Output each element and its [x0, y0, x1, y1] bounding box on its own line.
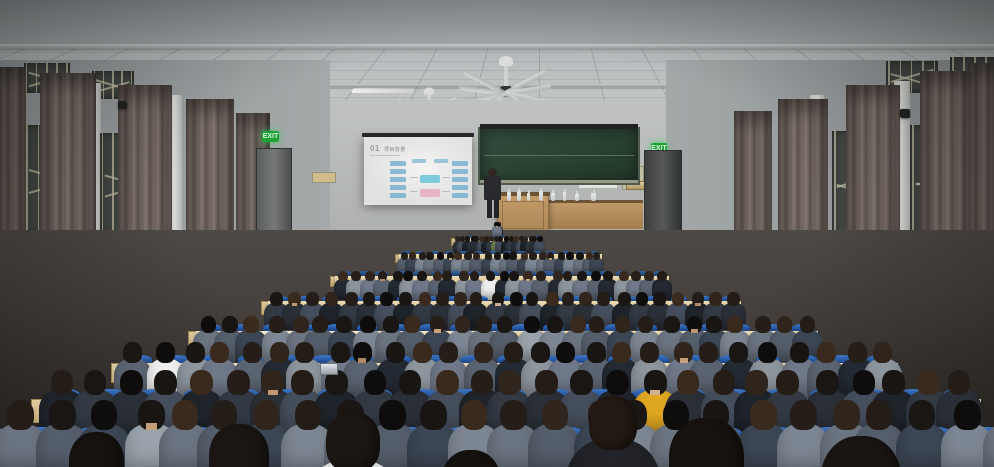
head	[727, 316, 743, 333]
neck	[358, 358, 366, 363]
head	[270, 342, 289, 363]
head	[777, 316, 793, 333]
head	[618, 292, 631, 306]
grey-striped-shirt	[151, 400, 152, 467]
neck	[695, 303, 701, 306]
ponytail-person	[612, 396, 613, 467]
head	[91, 400, 118, 430]
head	[336, 316, 352, 333]
head	[123, 342, 142, 363]
head	[556, 342, 575, 363]
head	[576, 252, 583, 260]
head	[399, 292, 412, 306]
head	[222, 316, 238, 333]
head	[210, 342, 229, 363]
head	[570, 316, 586, 333]
head	[253, 400, 280, 430]
fan-canopy	[424, 87, 434, 94]
audience-member	[671, 316, 672, 367]
head	[790, 400, 817, 430]
wall-speaker-right	[900, 109, 910, 118]
head	[547, 316, 563, 333]
head	[570, 370, 593, 395]
neck	[526, 279, 530, 281]
white-hoodie	[490, 271, 491, 303]
head	[954, 400, 981, 430]
head	[631, 271, 641, 282]
head	[566, 252, 573, 260]
head	[325, 292, 338, 306]
head	[413, 342, 432, 363]
head	[331, 342, 350, 363]
head	[227, 370, 250, 395]
head	[531, 342, 550, 363]
grille-bar	[26, 63, 28, 93]
head	[866, 400, 893, 430]
head	[291, 370, 314, 395]
audience-member	[967, 400, 968, 467]
audience-member	[20, 400, 21, 467]
head	[154, 370, 177, 395]
head	[612, 342, 631, 363]
audience-member	[540, 271, 541, 303]
audience-member	[185, 400, 186, 467]
head	[7, 400, 34, 430]
head	[619, 271, 629, 282]
head	[364, 370, 387, 395]
head	[49, 400, 76, 430]
head	[729, 342, 748, 363]
head	[758, 342, 777, 363]
audience-member	[433, 400, 434, 467]
navy-hoodie-person	[470, 450, 471, 467]
head	[917, 370, 940, 395]
head	[593, 252, 600, 260]
head	[817, 342, 836, 363]
head	[529, 252, 536, 260]
head	[190, 370, 213, 395]
neck	[292, 303, 298, 306]
head	[437, 252, 444, 260]
audience-member	[922, 400, 923, 467]
head	[524, 316, 540, 333]
head	[853, 370, 876, 395]
black-jacket-person	[860, 436, 861, 467]
head	[709, 292, 722, 306]
head	[727, 292, 740, 306]
audience-member	[763, 400, 764, 467]
audience-member	[392, 400, 393, 467]
head	[454, 252, 461, 260]
neck	[650, 390, 660, 396]
exit-sign-left: EXIT	[262, 131, 279, 142]
head	[201, 316, 217, 333]
neck	[434, 329, 441, 333]
head	[603, 271, 613, 282]
head	[295, 400, 322, 430]
head	[293, 316, 309, 333]
head	[470, 292, 483, 306]
head	[882, 370, 905, 395]
head	[84, 370, 107, 395]
head	[403, 271, 413, 282]
head	[243, 342, 262, 363]
head	[873, 342, 892, 363]
head	[306, 292, 319, 306]
head	[509, 271, 519, 282]
head	[383, 316, 399, 333]
head	[509, 252, 516, 260]
head	[504, 342, 523, 363]
neck	[680, 358, 688, 363]
neck	[146, 423, 158, 430]
head	[360, 316, 376, 333]
head	[776, 370, 799, 395]
white-hoodie-person	[352, 412, 353, 467]
head	[436, 370, 459, 395]
wall-speaker-left	[118, 101, 127, 109]
head	[790, 342, 809, 363]
head	[577, 271, 587, 282]
head	[404, 316, 420, 333]
head	[653, 292, 666, 306]
head	[745, 370, 768, 395]
grey-striped-person	[238, 424, 239, 467]
seating-area	[0, 150, 994, 467]
head	[269, 316, 285, 333]
head	[800, 316, 816, 333]
head	[455, 316, 471, 333]
head	[591, 271, 601, 282]
head	[439, 342, 458, 363]
head	[948, 370, 971, 395]
head	[326, 412, 380, 467]
grille-bar	[103, 71, 105, 99]
audience-member	[62, 400, 63, 467]
head	[474, 342, 493, 363]
head	[386, 342, 405, 363]
head	[243, 316, 259, 333]
head	[638, 316, 654, 333]
audience-member	[307, 400, 308, 467]
head	[589, 396, 637, 450]
audience-member	[411, 316, 412, 367]
head	[597, 292, 610, 306]
head	[636, 292, 649, 306]
head	[546, 292, 559, 306]
head	[579, 292, 592, 306]
neck	[496, 226, 498, 227]
head	[498, 370, 521, 395]
foreground-person-left	[96, 432, 97, 467]
head	[606, 370, 629, 395]
head	[500, 400, 527, 430]
head	[454, 292, 467, 306]
head	[510, 292, 523, 306]
head	[270, 292, 283, 306]
audience-member	[513, 400, 514, 467]
head	[379, 400, 406, 430]
audience-member	[803, 400, 804, 467]
head	[699, 342, 718, 363]
ceiling-fan	[505, 58, 507, 100]
head	[706, 316, 722, 333]
head	[351, 271, 361, 282]
head	[426, 252, 433, 260]
head	[750, 400, 777, 430]
head	[497, 316, 513, 333]
head	[156, 342, 175, 363]
head	[420, 400, 447, 430]
head	[417, 271, 427, 282]
neck	[495, 303, 501, 306]
head	[542, 400, 569, 430]
head	[848, 342, 867, 363]
head	[338, 271, 348, 282]
audience-member	[229, 316, 230, 367]
head	[409, 252, 416, 260]
neck	[380, 279, 384, 281]
head	[755, 316, 771, 333]
grille-bar	[911, 61, 913, 93]
head	[345, 292, 358, 306]
audience-member	[784, 316, 785, 367]
head	[589, 316, 605, 333]
head	[461, 400, 488, 430]
exit-sign-left-label: EXIT	[263, 133, 279, 140]
head	[535, 370, 558, 395]
lecture-hall-photo: EXIT EXIT 01 项目背景	[0, 0, 994, 467]
head	[186, 342, 205, 363]
head	[644, 271, 654, 282]
audience-member	[659, 292, 660, 333]
head	[312, 316, 328, 333]
head	[909, 400, 936, 430]
neck	[268, 390, 278, 396]
head	[833, 400, 860, 430]
audience-member	[554, 400, 555, 467]
audience-member	[219, 342, 220, 404]
nordic-sweater-person	[706, 418, 707, 467]
head	[672, 292, 685, 306]
audience-member	[343, 271, 344, 303]
laptop	[320, 363, 338, 375]
head	[657, 271, 667, 282]
head	[562, 292, 575, 306]
head	[436, 292, 449, 306]
audience-member	[568, 292, 569, 333]
head	[640, 342, 659, 363]
head	[537, 236, 542, 242]
head	[442, 271, 452, 282]
neck	[549, 258, 552, 260]
head	[587, 342, 606, 363]
head	[380, 292, 393, 306]
head	[536, 271, 546, 282]
fan-canopy	[499, 56, 513, 66]
head	[816, 370, 839, 395]
head	[526, 292, 539, 306]
head	[363, 292, 376, 306]
head	[399, 370, 422, 395]
grille-bar	[36, 63, 38, 93]
head	[713, 370, 736, 395]
head	[120, 370, 143, 395]
head	[172, 400, 199, 430]
head	[51, 370, 74, 395]
neck	[691, 329, 698, 333]
head	[295, 342, 314, 363]
head	[471, 370, 494, 395]
head	[419, 292, 432, 306]
head	[664, 316, 680, 333]
head	[476, 316, 492, 333]
head	[615, 316, 631, 333]
head	[677, 370, 700, 395]
head	[365, 271, 375, 282]
